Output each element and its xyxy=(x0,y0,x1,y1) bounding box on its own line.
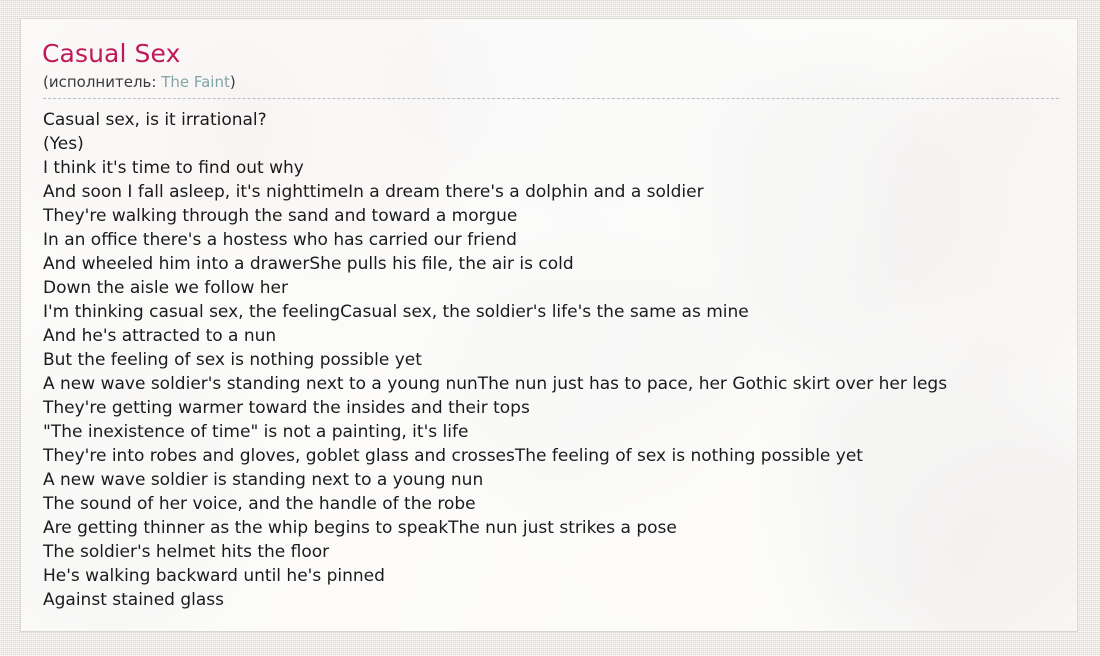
performer-label: (исполнитель: xyxy=(43,73,161,91)
performer-line: (исполнитель: The Faint) xyxy=(43,73,1059,92)
page-title: Casual Sex xyxy=(42,39,1059,69)
card-content: Casual Sex (исполнитель: The Faint) Casu… xyxy=(21,19,1077,612)
performer-link[interactable]: The Faint xyxy=(161,73,230,91)
lyric-line: A new wave soldier's standing next to a … xyxy=(43,372,1059,396)
lyric-line: Down the aisle we follow her xyxy=(43,276,1059,300)
performer-suffix: ) xyxy=(230,73,236,91)
lyrics-text: Casual sex, is it irrational? (Yes) I th… xyxy=(43,108,1059,612)
header-divider xyxy=(43,98,1059,99)
lyric-line: "The inexistence of time" is not a paint… xyxy=(43,420,1059,444)
lyric-line: And soon I fall asleep, it's nighttimeIn… xyxy=(43,180,1059,204)
lyric-line: A new wave soldier is standing next to a… xyxy=(43,468,1059,492)
lyric-line: In an office there's a hostess who has c… xyxy=(43,228,1059,252)
lyric-line: I think it's time to find out why xyxy=(43,156,1059,180)
lyric-line: The soldier's helmet hits the floor xyxy=(43,540,1059,564)
lyric-line: But the feeling of sex is nothing possib… xyxy=(43,348,1059,372)
lyric-line: They're getting warmer toward the inside… xyxy=(43,396,1059,420)
lyric-line: And wheeled him into a drawerShe pulls h… xyxy=(43,252,1059,276)
lyric-line: Against stained glass xyxy=(43,588,1059,612)
lyric-line: Casual sex, is it irrational? xyxy=(43,108,1059,132)
lyric-line: Are getting thinner as the whip begins t… xyxy=(43,516,1059,540)
lyric-line: They're walking through the sand and tow… xyxy=(43,204,1059,228)
lyric-line: (Yes) xyxy=(43,132,1059,156)
lyric-line: The sound of her voice, and the handle o… xyxy=(43,492,1059,516)
lyric-line: I'm thinking casual sex, the feelingCasu… xyxy=(43,300,1059,324)
lyric-line: And he's attracted to a nun xyxy=(43,324,1059,348)
lyrics-card: Casual Sex (исполнитель: The Faint) Casu… xyxy=(20,18,1078,632)
lyric-line: He's walking backward until he's pinned xyxy=(43,564,1059,588)
lyric-line: They're into robes and gloves, goblet gl… xyxy=(43,444,1059,468)
